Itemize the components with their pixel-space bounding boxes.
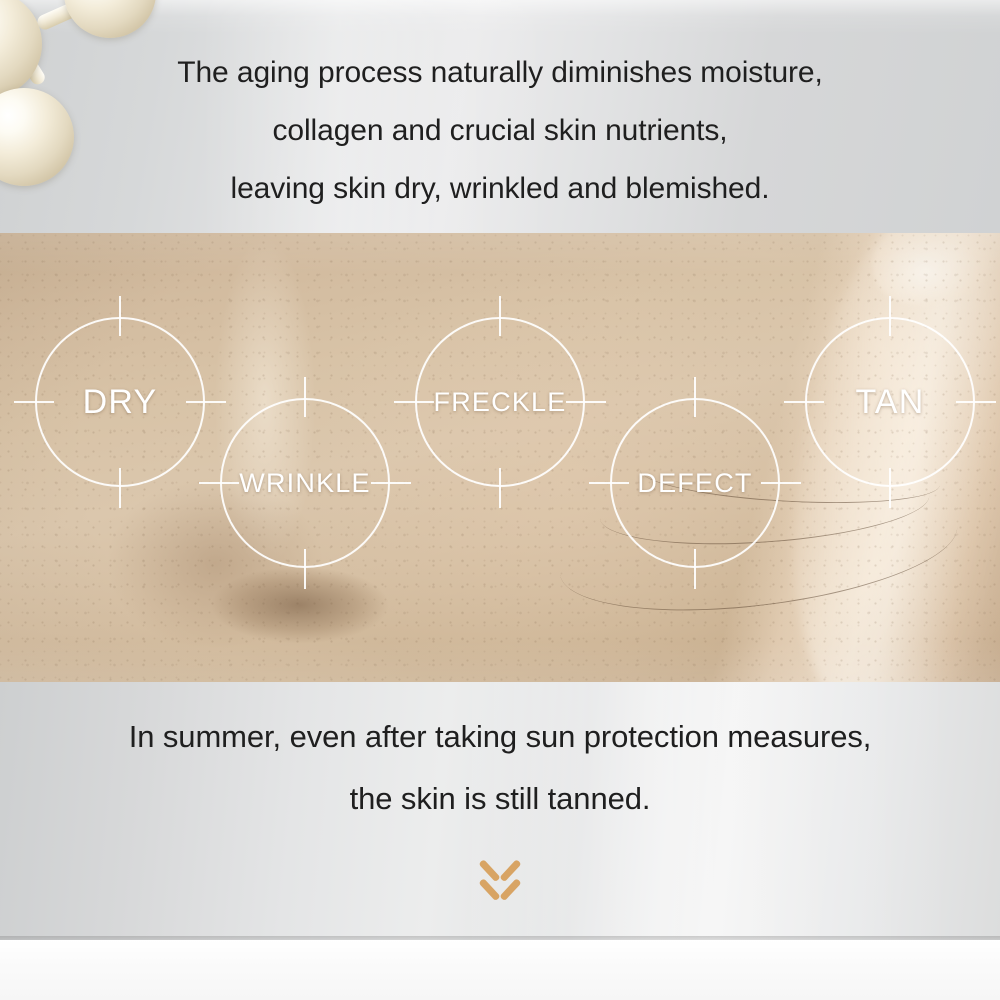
bottom-headline-line-2: the skin is still tanned.: [0, 768, 1000, 830]
double-chevron-down-icon: [472, 852, 528, 914]
top-headline-line-1: The aging process naturally diminishes m…: [0, 44, 1000, 102]
top-headline-line-2: collagen and crucial skin nutrients,: [0, 102, 1000, 160]
top-headline-line-3: leaving skin dry, wrinkled and blemished…: [0, 160, 1000, 218]
marker-label: TAN: [775, 287, 1000, 517]
table-surface-strip: [0, 940, 1000, 1000]
chevron-down-icon-2: [480, 871, 520, 911]
bottom-headline-line-1: In summer, even after taking sun protect…: [0, 706, 1000, 768]
marker-tan[interactable]: TAN: [775, 287, 1000, 517]
skin-closeup-photo: DRY WRINKLE FRECKLE DEFECT: [0, 233, 1000, 682]
product-infographic-page: The aging process naturally diminishes m…: [0, 0, 1000, 1000]
roller-ball-top: [64, 0, 156, 38]
top-headline: The aging process naturally diminishes m…: [0, 44, 1000, 218]
bottom-headline: In summer, even after taking sun protect…: [0, 706, 1000, 830]
